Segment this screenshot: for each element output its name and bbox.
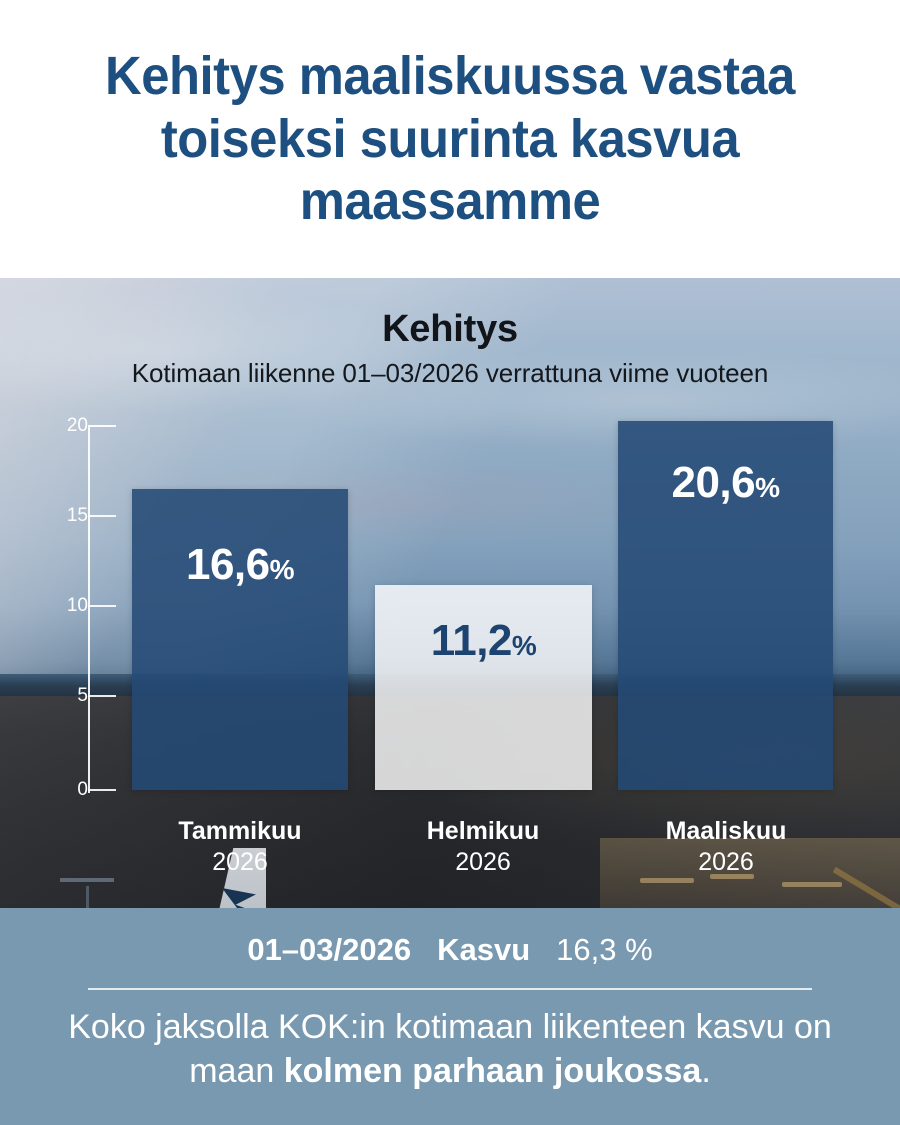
bar-value-tammikuu: 16,6%: [132, 543, 348, 587]
percent-sign: %: [512, 630, 536, 661]
y-axis-tick-10: [88, 605, 116, 607]
page-title: Kehitys maaliskuussa vastaa toiseksi suu…: [53, 45, 846, 233]
x-label-month-helmikuu: Helmikuu: [365, 816, 601, 847]
summary-period: 01–03/2026: [247, 932, 411, 967]
bar-helmikuu[interactable]: 11,2%: [375, 585, 592, 790]
footer-caption: Koko jaksolla KOK:in kotimaan liikenteen…: [46, 1006, 854, 1093]
y-axis-tick-0: [88, 789, 116, 791]
summary-row: 01–03/2026Kasvu16,3 %: [0, 934, 900, 965]
percent-sign: %: [755, 472, 779, 503]
caption-text-bold: kolmen parhaan joukossa: [284, 1052, 702, 1090]
y-tick-label-5: 5: [42, 686, 88, 705]
y-axis-tick-15: [88, 515, 116, 517]
x-label-year-maaliskuu: 2026: [608, 847, 844, 878]
y-tick-label-20: 20: [42, 416, 88, 435]
x-axis-label-tammikuu: Tammikuu 2026: [122, 816, 358, 877]
chart-panel: FINNAIR Kehitys Kotimaan liikenne 01–03/…: [0, 278, 900, 908]
y-tick-label-0: 0: [42, 780, 88, 799]
bar-value-helmikuu: 11,2%: [375, 619, 592, 663]
y-tick-label-15: 15: [42, 506, 88, 525]
chart-title: Kehitys: [0, 308, 900, 351]
chart-overlay: Kehitys Kotimaan liikenne 01–03/2026 ver…: [0, 278, 900, 908]
caption-text-post: .: [701, 1052, 710, 1090]
bar-value-number-helmikuu: 11,2: [431, 616, 512, 665]
footer-band: 01–03/2026Kasvu16,3 % Koko jaksolla KOK:…: [0, 908, 900, 1125]
bar-maaliskuu[interactable]: 20,6%: [618, 421, 833, 790]
chart-subtitle: Kotimaan liikenne 01–03/2026 verrattuna …: [0, 358, 900, 389]
summary-metric-label: Kasvu: [437, 932, 530, 967]
bar-tammikuu[interactable]: 16,6%: [132, 489, 348, 790]
x-axis-label-helmikuu: Helmikuu 2026: [365, 816, 601, 877]
y-axis-tick-5: [88, 695, 116, 697]
bar-value-number-tammikuu: 16,6: [186, 540, 270, 589]
percent-sign: %: [270, 554, 294, 585]
x-label-year-helmikuu: 2026: [365, 847, 601, 878]
bar-value-number-maaliskuu: 20,6: [671, 458, 755, 507]
y-axis-line: [88, 425, 90, 793]
x-axis-label-maaliskuu: Maaliskuu 2026: [608, 816, 844, 877]
x-label-year-tammikuu: 2026: [122, 847, 358, 878]
x-label-month-maaliskuu: Maaliskuu: [608, 816, 844, 847]
x-label-month-tammikuu: Tammikuu: [122, 816, 358, 847]
bar-value-maaliskuu: 20,6%: [618, 461, 833, 505]
y-tick-label-10: 10: [42, 596, 88, 615]
summary-metric-value: 16,3 %: [556, 932, 653, 967]
headline-band: Kehitys maaliskuussa vastaa toiseksi suu…: [0, 0, 900, 278]
footer-divider: [88, 988, 812, 990]
y-axis-top-tick: [88, 425, 116, 427]
